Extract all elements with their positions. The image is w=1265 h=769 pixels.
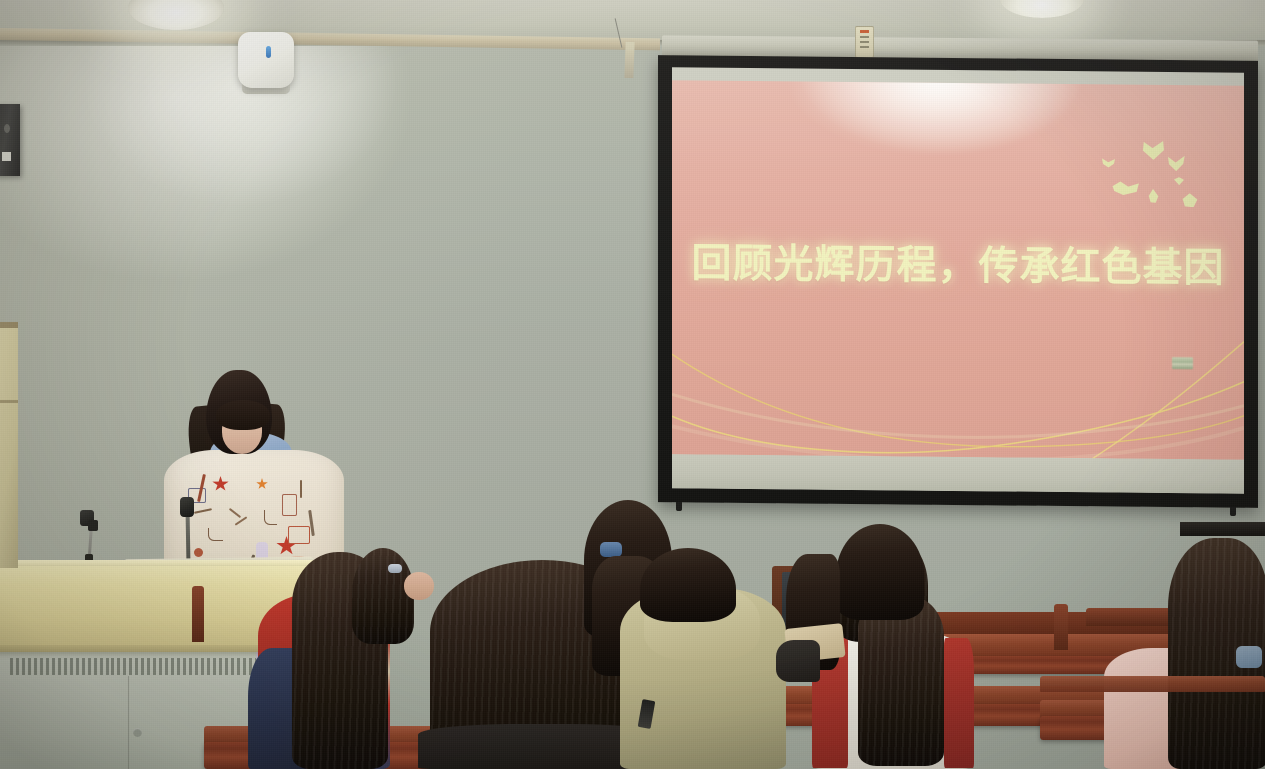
- microphone-capsule-left: [88, 520, 98, 531]
- projection-screen-frame: 回顾光辉历程，传承红色基因: [658, 55, 1258, 508]
- screen-weight-bar-right: [1230, 507, 1236, 516]
- student-front-left-cheek: [404, 572, 434, 600]
- student-front-left-hair-tie: [388, 564, 402, 573]
- wall-column-cap: [0, 322, 18, 328]
- student-front-left-head: [352, 548, 414, 644]
- stage-panel-seam: [128, 676, 129, 769]
- student-mid-right-jacket-trim-right: [944, 638, 974, 768]
- student-far-right-hair-tie: [1236, 646, 1262, 668]
- screen-weight-bar-left: [676, 502, 682, 511]
- student-mid-center-hair-tie: [600, 542, 622, 557]
- slide-title: 回顾光辉历程，传承红色基因: [672, 230, 1244, 293]
- wall-column-left: [0, 322, 18, 568]
- wall-speaker-icon: [0, 104, 20, 176]
- speaker-cone-icon: [4, 124, 10, 133]
- access-point-icon: [238, 32, 294, 88]
- projected-slide: 回顾光辉历程，传承红色基因: [672, 80, 1244, 459]
- wall-frame-edge-right: [1180, 522, 1265, 536]
- bench-post-left: [192, 586, 204, 642]
- bench-post-right: [1054, 604, 1068, 650]
- microphone-head-right: [180, 497, 194, 517]
- status-led-icon: [266, 46, 271, 58]
- screen-artifact-icon: [1172, 357, 1193, 369]
- student-mid-left-hair: [640, 548, 736, 622]
- butterfly-decoration-icon: [1090, 136, 1220, 215]
- screen-bracket-left: [624, 42, 634, 78]
- student-back-right-shoulder: [776, 640, 820, 682]
- lecture-hall-photo: 回顾光辉历程，传承红色基因: [0, 0, 1265, 769]
- student-back-right-hair: [836, 524, 924, 620]
- screen-control-panel[interactable]: [855, 26, 874, 58]
- bench-rail-near-right: [1040, 676, 1265, 692]
- student-mid-right-ponytail: [858, 596, 944, 766]
- slide-swoosh-decoration: [672, 330, 1244, 459]
- stage-panel-knob[interactable]: [133, 728, 142, 737]
- screen-unprojected-band: [672, 454, 1244, 493]
- projection-screen-surface: 回顾光辉历程，传承红色基因: [672, 67, 1244, 493]
- wall-column-seam: [0, 400, 18, 403]
- presenter-bangs: [216, 400, 270, 430]
- speaker-label-plate: [2, 152, 11, 161]
